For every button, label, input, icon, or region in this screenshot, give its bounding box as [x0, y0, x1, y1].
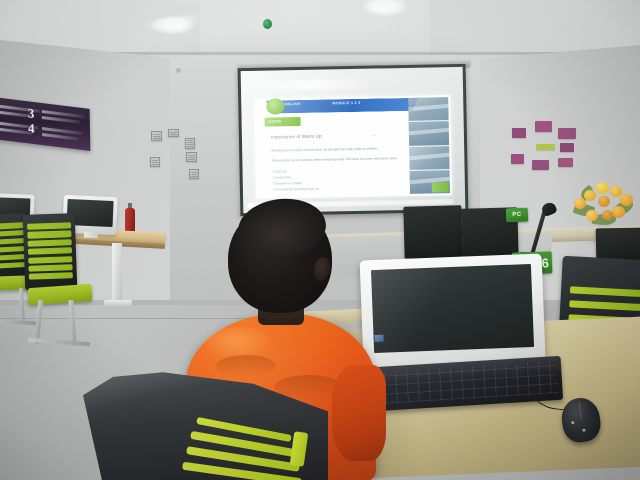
pc-label-small: PC: [506, 208, 528, 223]
flower-icon: [612, 206, 625, 218]
slide-photo: [408, 97, 448, 121]
slide-bullet: 4 Cool down for stretching 5 join set: [273, 187, 319, 192]
computer-lab-photo: ENGLISH MODULE 1 2 3 LESSON Importance o…: [0, 0, 640, 480]
slide-paragraph: Stretching your body's muscle warm up an…: [271, 147, 377, 153]
slide-bullet: 3 Dynamic run 10 laps: [273, 181, 302, 186]
chair-foreground[interactable]: [78, 370, 328, 480]
chair-slat: [0, 230, 24, 237]
banner-text-line: [42, 133, 78, 140]
sticky-note: [558, 128, 576, 139]
slide-photo-strip: [408, 97, 450, 194]
chair-slat: [27, 231, 71, 239]
pc-label-small-text: PC: [512, 212, 522, 218]
banner-number: 3: [28, 106, 35, 120]
sticky-note: [535, 121, 552, 132]
flower-icon: [598, 196, 610, 207]
monitor-stand: [84, 232, 98, 239]
slide-banner-right-text: MODULE 1 2 3: [332, 101, 360, 106]
chair-slat: [28, 256, 72, 264]
flower-icon: [586, 210, 598, 221]
slide-photo: [409, 121, 449, 145]
slide-bullet: 1 Warm up: [273, 169, 287, 173]
slide-lesson-tag-text: LESSON: [268, 119, 282, 123]
flower-icon: [596, 182, 609, 194]
picture-frame: [168, 129, 179, 137]
flower-icon: [602, 210, 613, 220]
dark-monitor: [403, 205, 462, 259]
screen-glare: [249, 79, 369, 91]
mouse-highlight: [571, 421, 574, 424]
chair-slat: [569, 300, 640, 311]
flower-icon: [574, 198, 586, 209]
chair-slat: [0, 238, 24, 245]
flower-icon: [610, 186, 622, 197]
pull-down-projection-screen: ENGLISH MODULE 1 2 3 LESSON Importance o…: [238, 64, 469, 216]
chair-slat: [0, 254, 25, 261]
chair-backrest: [23, 213, 78, 291]
sticky-note: [511, 154, 524, 164]
sticky-note: [560, 143, 574, 152]
chair-slat: [27, 222, 71, 230]
flower-icon: [620, 194, 633, 206]
chair-slat: [29, 264, 73, 272]
picture-frame: [189, 169, 199, 179]
sticky-note: [532, 160, 549, 170]
sticky-note: [558, 158, 573, 167]
mouse-button-split: [578, 402, 581, 418]
green-indicator-dot-icon: [263, 19, 272, 29]
monitor-screen: [371, 264, 534, 353]
chair-slat: [0, 262, 26, 269]
flower-icon: [584, 190, 596, 201]
screen-canvas: ENGLISH MODULE 1 2 3 LESSON Importance o…: [241, 67, 466, 213]
chair-slat: [28, 239, 72, 247]
mouse-highlight: [582, 428, 585, 431]
presentation-slide: ENGLISH MODULE 1 2 3 LESSON Importance o…: [254, 95, 452, 199]
slide-photo: [409, 146, 449, 170]
slide-bullet: 2 Aerobic flow: [273, 175, 291, 179]
banner-text-line: [42, 116, 80, 124]
student-arm: [332, 365, 386, 461]
banner-number: 4: [28, 121, 35, 135]
slide-paragraph: Always warm-up or stretches before endur…: [271, 156, 396, 162]
chair-slat: [569, 286, 640, 297]
picture-frame: [150, 157, 160, 167]
picture-frame: [186, 152, 197, 162]
fire-extinguisher-icon: [125, 208, 135, 232]
flower-bouquet: [568, 180, 638, 228]
slide-banner-left-text: ENGLISH: [282, 102, 300, 106]
chair-slat: [28, 247, 72, 255]
chair-slat: [0, 222, 24, 229]
slide-title: Importance of Warm Up: [271, 134, 322, 140]
picture-frame: [185, 138, 195, 149]
chair-slat: [0, 246, 25, 253]
sticky-note: [512, 128, 526, 138]
desk-leg: [112, 243, 122, 305]
slide-mark: »: [373, 134, 375, 138]
slide-corner-tag: [432, 182, 449, 192]
ceiling-sensor-icon: [176, 68, 181, 73]
chair-slat: [29, 272, 73, 280]
picture-frame: [151, 131, 162, 141]
desk-foot: [104, 300, 132, 306]
sticky-note: [536, 144, 555, 150]
